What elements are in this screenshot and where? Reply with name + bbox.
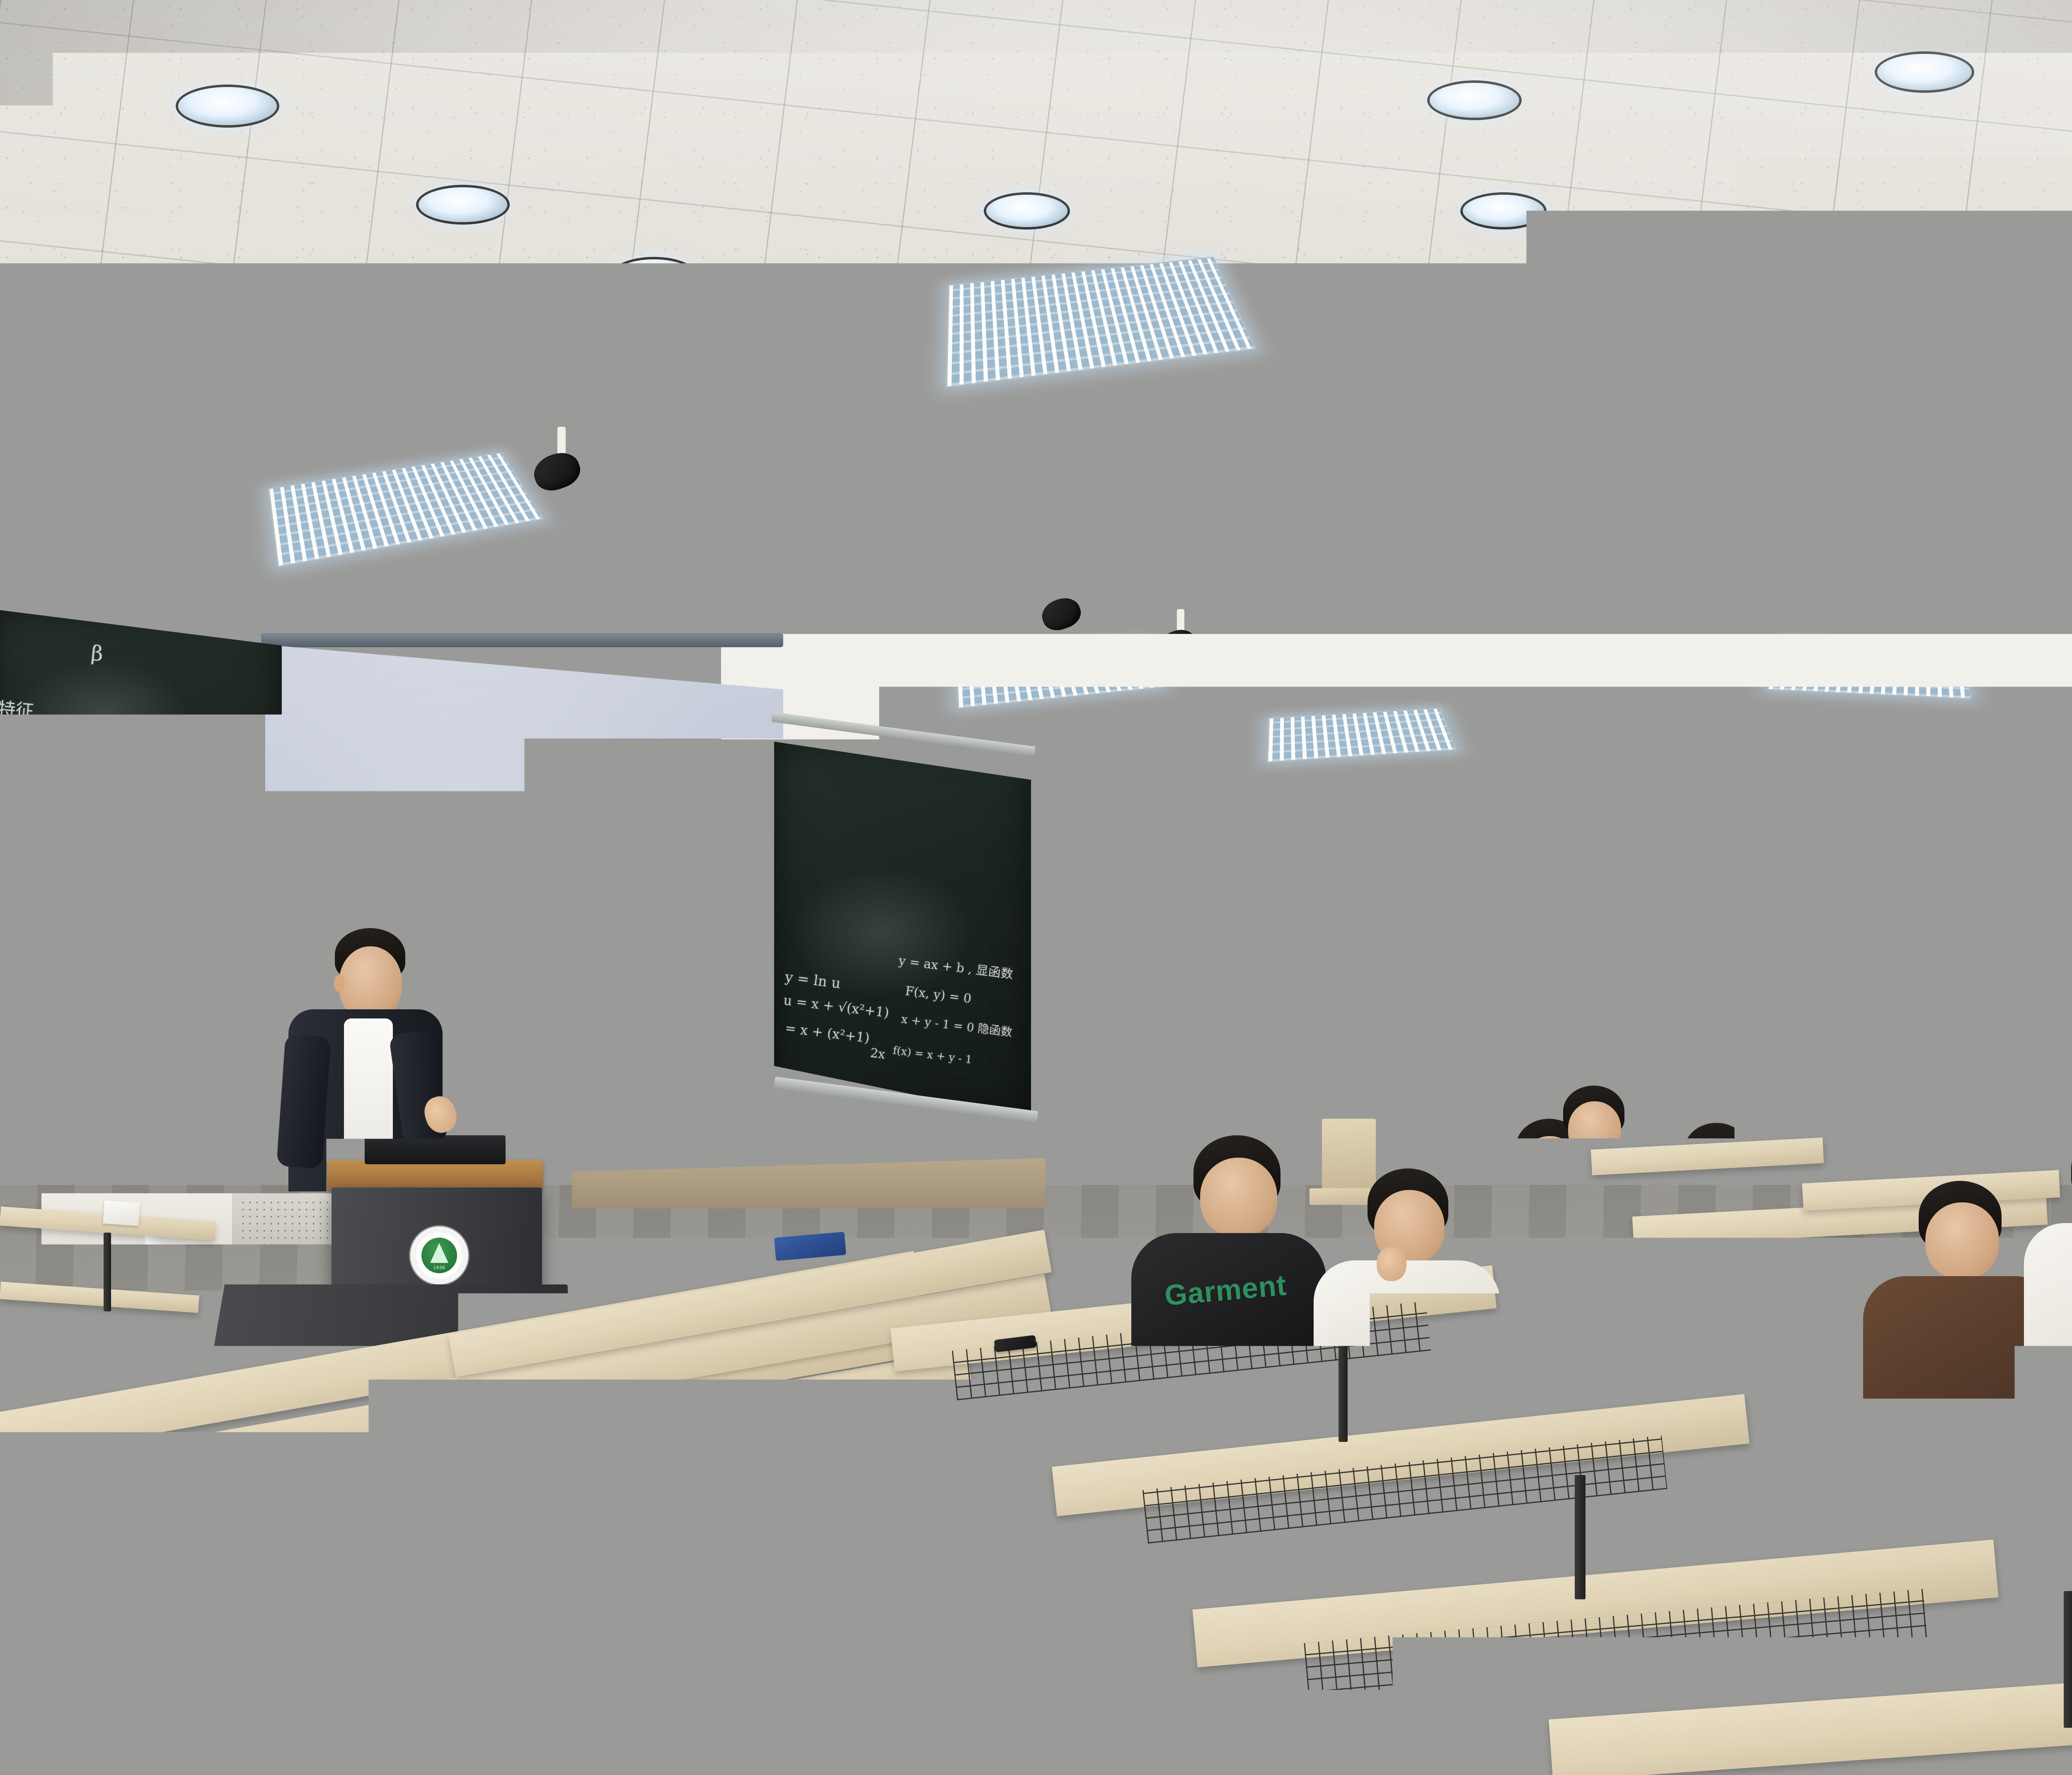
student-head xyxy=(1200,1158,1277,1236)
book-spine-text xyxy=(1291,1625,1413,1644)
door-handle[interactable] xyxy=(1172,1092,1177,1124)
student-jacket xyxy=(2024,1223,2072,1439)
board-formula: = x + (x²+1) xyxy=(784,1020,870,1046)
speaker-perforation xyxy=(240,1199,328,1295)
downlight xyxy=(613,259,695,292)
downlight xyxy=(1537,519,1602,544)
door-hinge xyxy=(1231,979,1237,998)
projector-label xyxy=(1619,564,1671,592)
board-formula: 特征 xyxy=(0,694,35,723)
student xyxy=(2018,1135,2072,1492)
smoke-detector xyxy=(1363,518,1389,532)
desk-leg xyxy=(2064,1591,2072,1728)
paper-on-desk xyxy=(103,1200,140,1226)
exit-sign-text: 安 全 出 口 xyxy=(1157,765,1228,806)
wall-electrical-panel xyxy=(1330,994,1401,1044)
board-formula: 2x xyxy=(869,1046,886,1062)
wall-speaker-panel xyxy=(1223,902,1247,924)
book-cover-image xyxy=(1343,1577,1409,1615)
wall-notice-sign: 严禁吸烟、吃零食！ xyxy=(1604,899,1682,921)
board-formula: β xyxy=(90,641,104,666)
blackboard-center: y = ln u u = x + √(x²+1) = x + (x²+1) y … xyxy=(774,742,1031,1119)
ceiling-vent xyxy=(818,485,886,509)
downlight xyxy=(1694,365,1768,394)
blackboard-left: β 特征 向量 ξ₁ = ( -2 , 1 , 0 ) ξ₂ = ( 1 , 0… xyxy=(0,609,282,1131)
presenter-arm-left xyxy=(276,1034,331,1169)
student-lower xyxy=(1106,1425,1285,1599)
slide-presenter-label: 主讲人： 吴老师 xyxy=(555,990,670,1018)
student-head xyxy=(1568,1101,1621,1157)
downlight xyxy=(1723,472,1791,499)
classroom-photo: 严禁吸烟、吃零食！ 安 全 出 口 西南林业大学土木学院 2025考研考前指导课… xyxy=(0,0,2072,1775)
board-formula: x + y - 1 = 0 隐函数 xyxy=(900,1010,1014,1040)
student-hand xyxy=(1377,1247,1406,1281)
downlight xyxy=(1562,613,1621,636)
status-led-green xyxy=(1458,999,1463,1004)
downlight xyxy=(178,87,277,125)
downlight xyxy=(986,195,1067,227)
downlight xyxy=(1877,54,1972,90)
status-led-red xyxy=(1474,999,1479,1004)
door-panel xyxy=(1180,969,1220,1019)
student-jacket xyxy=(1698,1208,1814,1345)
wall-notice-text: 严禁吸烟、吃零食！ xyxy=(1591,902,1695,918)
projector-mount-pole xyxy=(1571,431,1587,551)
panel-label xyxy=(1348,1016,1383,1023)
board-formula: ξ₂ = ( 1 , 0 , -5 ) xyxy=(116,743,243,772)
downlight xyxy=(1376,443,1438,468)
emblem-year: 1938 xyxy=(433,1265,445,1270)
downlight xyxy=(419,187,507,222)
wall-mounted-speaker xyxy=(1629,779,1669,845)
presenter xyxy=(274,928,464,1210)
downlight xyxy=(765,318,839,348)
door-handle[interactable] xyxy=(1182,1092,1188,1124)
emblem-disc: 1938 xyxy=(421,1238,457,1274)
downlight xyxy=(66,410,154,445)
tree-icon xyxy=(430,1243,448,1263)
downlight xyxy=(1923,265,2000,296)
panel-label xyxy=(1550,1016,1583,1022)
chalk-smudge xyxy=(66,874,224,999)
status-led-green xyxy=(1458,984,1463,990)
door-panel xyxy=(1131,969,1172,1019)
downlight xyxy=(1956,365,2028,393)
wall-electrical-panel xyxy=(1533,994,1600,1043)
ceiling-antenna-rod xyxy=(1994,452,1997,588)
student xyxy=(1695,1144,1819,1359)
board-formula: y = f(y) xyxy=(49,861,125,890)
student-head xyxy=(1925,1202,1999,1279)
status-led-red xyxy=(1474,984,1479,989)
board-formula: F(x, y) = 0 xyxy=(904,984,972,1006)
downlight xyxy=(1430,83,1519,118)
downlight xyxy=(1492,307,1568,336)
emergency-exit-sign: 安 全 出 口 xyxy=(1155,771,1230,799)
exit-sign-mount xyxy=(1136,771,1153,817)
board-formula: ( -2 , 1 , 0 ) + c xyxy=(0,783,114,811)
board-formula: f(x) = x + y - 1 xyxy=(892,1044,973,1066)
downlight xyxy=(1463,195,1544,227)
university-emblem: 1938 xyxy=(410,1226,468,1284)
presenter-tshirt xyxy=(344,1018,393,1184)
board-formula: = eˣ xyxy=(72,1020,111,1044)
projector-lens xyxy=(1492,559,1510,597)
downlight xyxy=(1751,571,1813,595)
speaker-grill xyxy=(1184,912,1227,920)
screen-roller-case xyxy=(261,633,783,647)
downlight xyxy=(1989,460,2059,487)
desk-leg xyxy=(1575,1475,1585,1599)
presenter-ear xyxy=(334,975,345,992)
door-panel xyxy=(1131,1029,1172,1106)
door-hinge xyxy=(1231,1089,1237,1108)
downlight xyxy=(1115,494,1179,520)
downlight xyxy=(920,414,990,443)
student-head xyxy=(1730,1158,1779,1211)
wall-control-panel xyxy=(1438,957,1491,1063)
ceiling-vent xyxy=(1836,236,1922,266)
wall-mounted-speaker xyxy=(1637,849,1669,878)
desk-leg xyxy=(104,1233,111,1311)
